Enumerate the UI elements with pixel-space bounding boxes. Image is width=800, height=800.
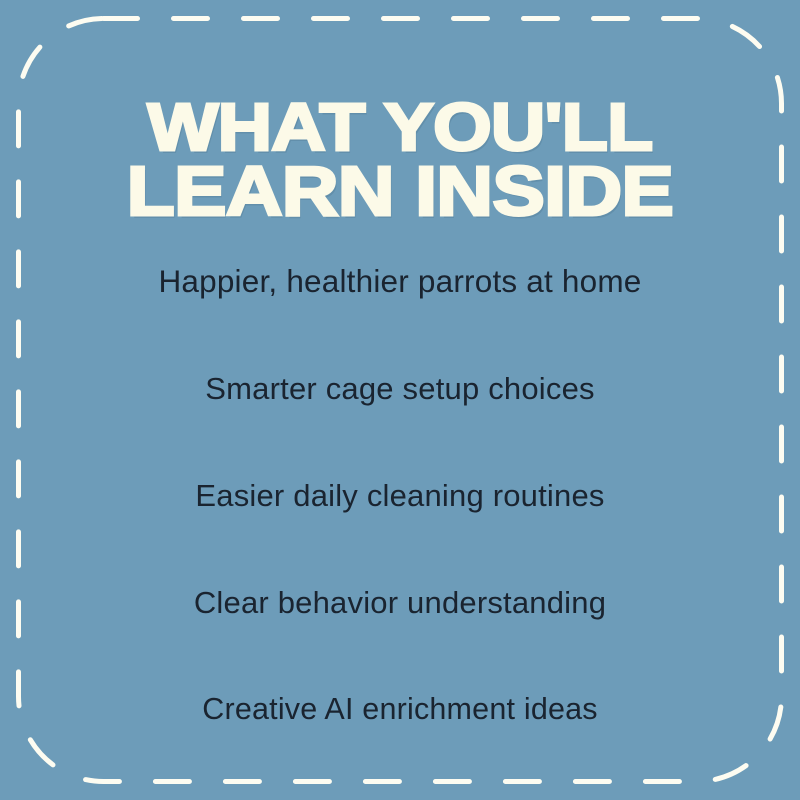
page-title: WHAT YOU'LL LEARN INSIDE	[0, 97, 800, 223]
list-item: Clear behavior understanding	[60, 549, 740, 656]
list-item: Happier, healthier parrots at home	[60, 228, 740, 335]
list-item: Creative AI enrichment ideas	[60, 656, 740, 763]
list-item: Smarter cage setup choices	[60, 335, 740, 442]
benefits-list: Happier, healthier parrots at home Smart…	[60, 228, 740, 763]
headline-line-2: LEARN INSIDE	[0, 159, 800, 223]
promo-poster: WHAT YOU'LL LEARN INSIDE Happier, health…	[0, 0, 800, 800]
poster-content: WHAT YOU'LL LEARN INSIDE Happier, health…	[0, 0, 800, 800]
headline-line-1: WHAT YOU'LL	[0, 97, 800, 159]
list-item: Easier daily cleaning routines	[60, 442, 740, 549]
